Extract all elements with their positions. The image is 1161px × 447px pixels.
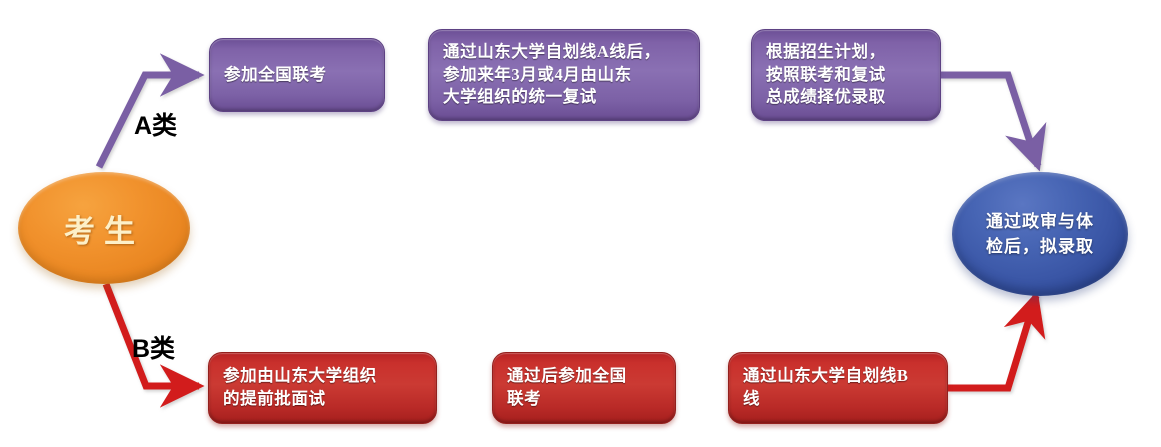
branch-label-a: A类	[134, 106, 177, 142]
connector-b3-to-admitted	[948, 296, 1036, 388]
connector-a3-to-admitted	[941, 75, 1038, 166]
node-b2-label: 通过后参加全国 联考	[507, 365, 661, 411]
node-a1[interactable]: 参加全国联考	[209, 38, 385, 112]
node-a2-label: 通过山东大学自划线A线后， 参加来年3月或4月由山东 大学组织的统一复试	[443, 41, 685, 109]
node-candidate-label: 考生	[18, 206, 190, 251]
node-a1-label: 参加全国联考	[224, 64, 370, 87]
node-admitted[interactable]: 通过政审与体 检后，拟录取	[952, 172, 1128, 296]
flowchart-canvas: 考生 A类 B类 参加全国联考 通过山东大学自划线A线后， 参加来年3月或4月由…	[0, 0, 1161, 447]
node-admitted-label: 通过政审与体 检后，拟录取	[952, 209, 1128, 260]
node-a3[interactable]: 根据招生计划， 按照联考和复试 总成绩择优录取	[751, 29, 941, 121]
branch-label-b: B类	[132, 329, 175, 365]
node-a3-label: 根据招生计划， 按照联考和复试 总成绩择优录取	[766, 41, 926, 109]
node-b2[interactable]: 通过后参加全国 联考	[492, 352, 676, 424]
node-b3-label: 通过山东大学自划线B 线	[743, 365, 933, 411]
node-candidate[interactable]: 考生	[18, 172, 190, 284]
node-b1-label: 参加由山东大学组织 的提前批面试	[223, 365, 422, 411]
node-b3[interactable]: 通过山东大学自划线B 线	[728, 352, 948, 424]
node-a2[interactable]: 通过山东大学自划线A线后， 参加来年3月或4月由山东 大学组织的统一复试	[428, 29, 700, 121]
node-b1[interactable]: 参加由山东大学组织 的提前批面试	[208, 352, 437, 424]
